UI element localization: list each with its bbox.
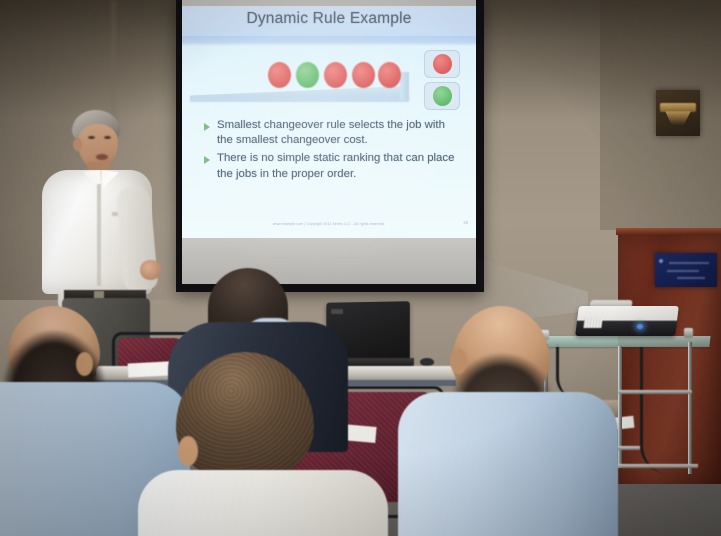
projector-vent [583,318,602,328]
audience-member-center-front-body [138,470,388,536]
projector-status-led-icon [637,324,643,329]
slide-page-number: 28 [463,220,468,225]
wall-art-icon [656,90,700,136]
conference-room-photo: Dynamic Rule Example [0,0,721,536]
job-circle-red [378,62,401,88]
presenter-ear [73,138,82,151]
audience-member-right-body [398,392,618,536]
job-circle-red [324,62,347,88]
legend-box-green [424,82,460,110]
presenter-hand [140,260,161,280]
power-cable [640,344,669,474]
legend-box-red [424,50,460,78]
conveyor-base [190,97,409,102]
changeover-sequence-diagram [182,44,476,112]
cart-knob [684,328,693,338]
slide-footer: www.example.com | Copyright 2011 Series … [182,222,476,226]
presentation-slide: Dynamic Rule Example [182,6,476,238]
podium-top-surface [616,228,721,235]
slide-bullet-text: There is no simple static ranking that c… [217,152,454,179]
legend-dot-red-icon [433,54,452,74]
audience-member-right-ear [450,348,467,374]
computer-mouse [420,358,434,366]
slide-bullet: Smallest changeover rule selects the job… [204,118,460,148]
audience-member-left-ear [76,352,93,376]
presenter-eye [88,136,95,139]
slide-title: Dynamic Rule Example [182,10,476,28]
cart-crossbar [618,390,692,394]
laptop-logo-icon [331,309,343,314]
podium-sign [655,253,717,287]
projection-screen-surface: Dynamic Rule Example [182,0,476,284]
job-circle-red [268,62,291,88]
presenter-mouth [96,154,108,160]
slide-bullet-list: Smallest changeover rule selects the job… [204,118,460,185]
job-circle-red [352,62,375,88]
podium-sign-line [669,262,709,264]
legend-dot-green-icon [433,86,452,106]
job-circle-green [296,62,319,88]
slide-bullet-text: Smallest changeover rule selects the job… [217,119,445,146]
audience-member-center-front-ear [178,436,198,466]
podium-sign-line [677,277,705,279]
cart-leg [688,342,692,474]
slide-bullet: There is no simple static ranking that c… [204,151,460,181]
podium-sign-emblem-icon [659,259,663,263]
bullet-triangle-icon [204,123,210,131]
conveyor-end-stop [400,72,409,100]
podium-sign-line [667,270,699,272]
bullet-triangle-icon [204,156,210,164]
presenter-shirt-placket [97,184,101,286]
presenter-eye [104,136,111,139]
